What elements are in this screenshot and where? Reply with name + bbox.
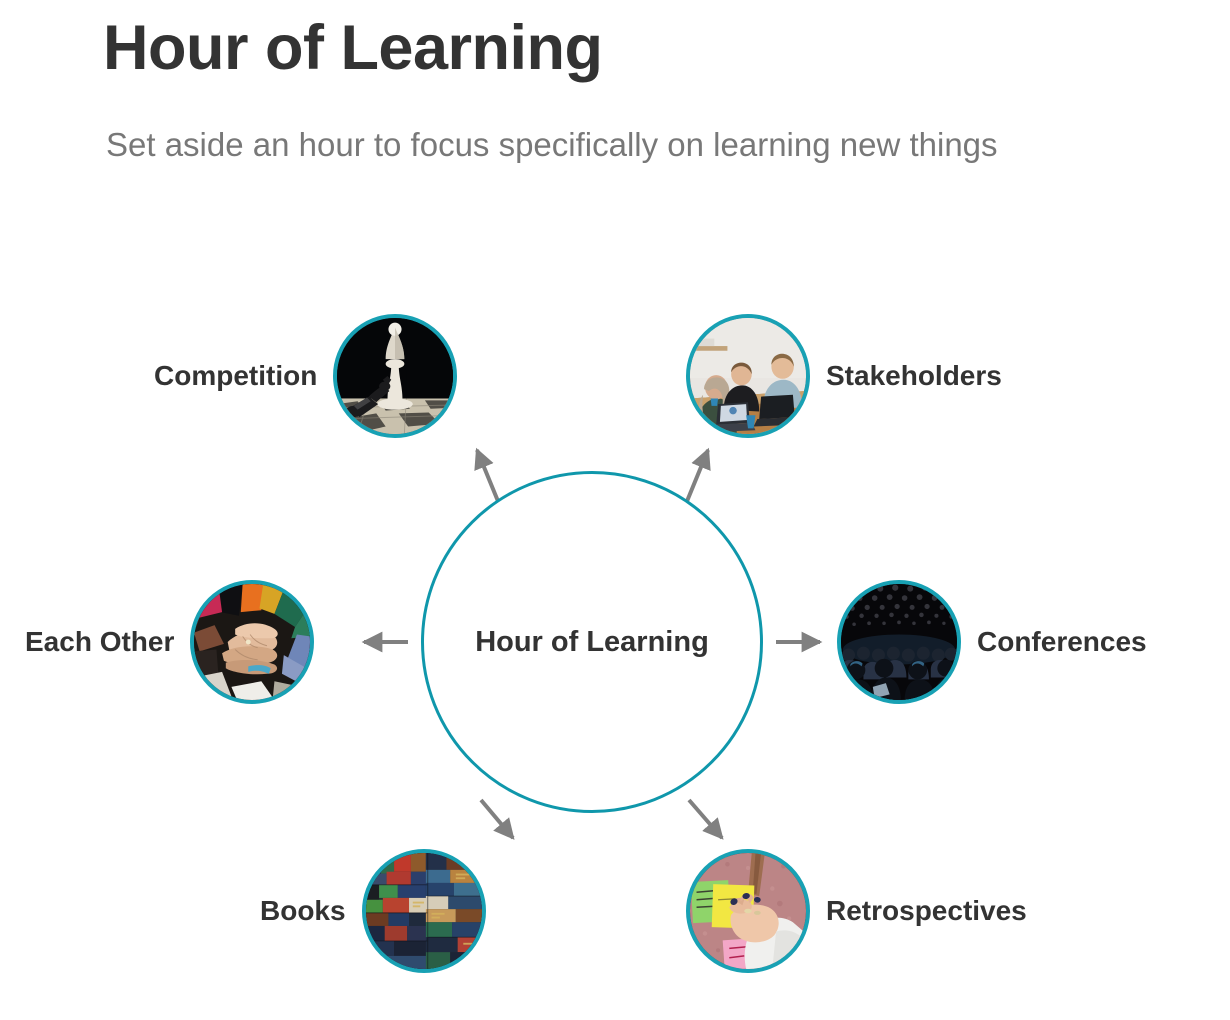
- node-books[interactable]: Books: [260, 849, 486, 973]
- node-label-retrospectives: Retrospectives: [826, 897, 1027, 925]
- hub-and-spoke-diagram: Hour of Learning Competition: [0, 0, 1230, 1020]
- people-at-laptops-photo-icon: [686, 314, 810, 438]
- node-label-stakeholders: Stakeholders: [826, 362, 1002, 390]
- node-label-conferences: Conferences: [977, 628, 1147, 656]
- node-competition[interactable]: Competition: [154, 314, 457, 438]
- stacked-hands-photo-icon: [190, 580, 314, 704]
- node-stakeholders[interactable]: Stakeholders: [686, 314, 1002, 438]
- arrow-to-books: [481, 800, 513, 838]
- arrow-to-retrospectives: [689, 800, 722, 838]
- node-label-books: Books: [260, 897, 346, 925]
- hub-label: Hour of Learning: [475, 626, 709, 659]
- stacked-books-photo-icon: [362, 849, 486, 973]
- chess-pieces-photo-icon: [333, 314, 457, 438]
- hub-circle[interactable]: Hour of Learning: [421, 471, 763, 813]
- conference-audience-photo-icon: [837, 580, 961, 704]
- node-label-each-other: Each Other: [25, 628, 174, 656]
- node-label-competition: Competition: [154, 362, 317, 390]
- sticky-notes-on-wall-photo-icon: [686, 849, 810, 973]
- node-retrospectives[interactable]: Retrospectives: [686, 849, 1027, 973]
- node-each-other[interactable]: Each Other: [25, 580, 314, 704]
- slide-canvas: Hour of Learning Set aside an hour to fo…: [0, 0, 1230, 1020]
- node-conferences[interactable]: Conferences: [837, 580, 1147, 704]
